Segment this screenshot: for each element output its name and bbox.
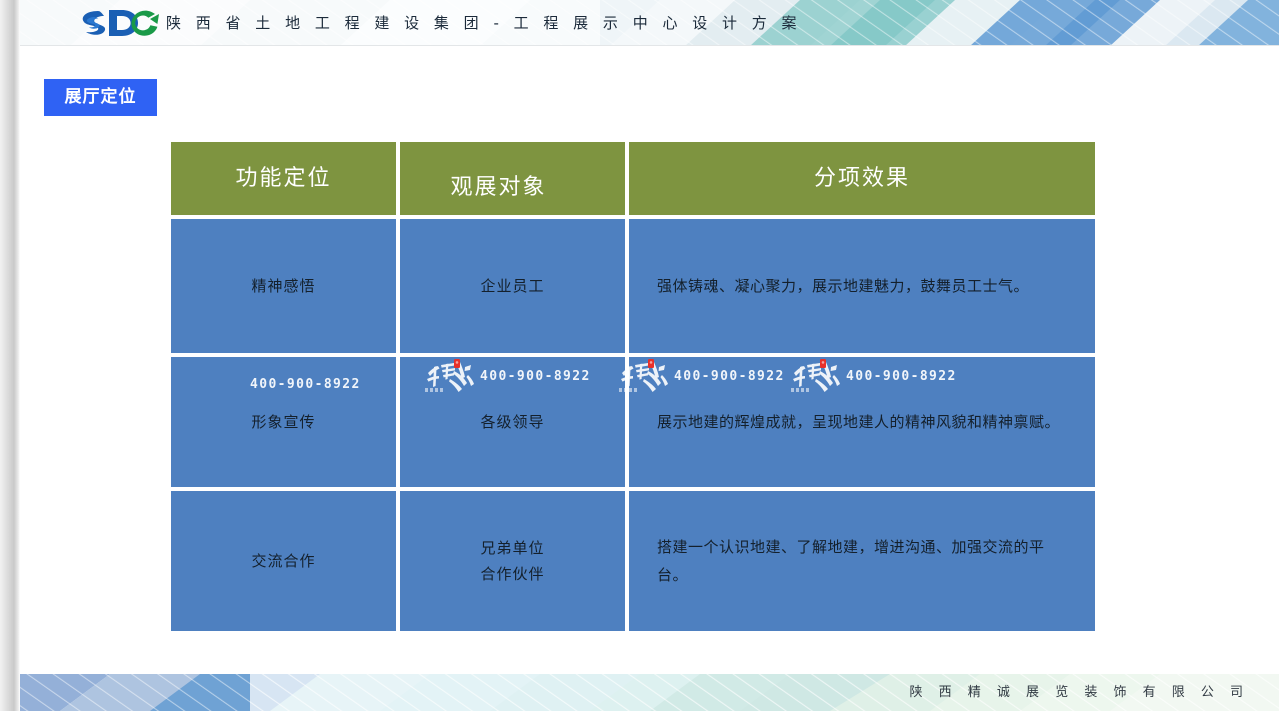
table-cell-audience-text: 兄弟单位 合作伙伴 [400, 535, 625, 587]
table-header-cell-function: 功能定位 [171, 142, 396, 215]
table-cell-function-text: 精神感悟 [171, 273, 396, 299]
table-cell-effect-text: 强体铸魂、凝心聚力，展示地建魅力，鼓舞员工士气。 [657, 272, 1073, 300]
table-cell-effect: 展示地建的辉煌成就，呈现地建人的精神风貌和精神禀赋。 [629, 357, 1095, 487]
section-badge: 展厅定位 [44, 79, 157, 116]
table-cell-effect-text: 展示地建的辉煌成就，呈现地建人的精神风貌和精神禀赋。 [657, 408, 1073, 436]
table-cell-audience-text: 各级领导 [400, 409, 625, 435]
table-cell-audience-line2: 合作伙伴 [400, 561, 625, 587]
table-cell-function: 精神感悟 [171, 219, 396, 353]
table-row: 形象宣传 各级领导 展示地建的辉煌成就，呈现地建人的精神风貌和精神禀赋。 [171, 357, 1095, 487]
table-cell-audience-line1: 兄弟单位 [400, 535, 625, 561]
table-cell-effect: 强体铸魂、凝心聚力，展示地建魅力，鼓舞员工士气。 [629, 219, 1095, 353]
table-cell-effect: 搭建一个认识地建、了解地建，增进沟通、加强交流的平台。 [629, 491, 1095, 631]
table-cell-function-text: 形象宣传 [171, 409, 396, 435]
slide-footer: 陕 西 精 诚 展 览 装 饰 有 限 公 司 [0, 674, 1279, 711]
table-header-cell-audience: 观展对象 [400, 142, 625, 215]
header-divider [0, 45, 1279, 46]
table-header-label-function: 功能定位 [171, 162, 396, 196]
table-cell-audience: 企业员工 [400, 219, 625, 353]
sdc-logo-icon [76, 5, 160, 41]
slide-header: 陕 西 省 土 地 工 程 建 设 集 团 - 工 程 展 示 中 心 设 计 … [0, 0, 1279, 46]
table-row: 精神感悟 企业员工 强体铸魂、凝心聚力，展示地建魅力，鼓舞员工士气。 [171, 219, 1095, 353]
table-cell-function-text: 交流合作 [171, 548, 396, 574]
table-header-row: 功能定位 观展对象 分项效果 [171, 142, 1095, 215]
section-badge-label: 展厅定位 [44, 79, 157, 116]
table-cell-audience-text: 企业员工 [400, 273, 625, 299]
positioning-table: 功能定位 观展对象 分项效果 精神感悟 企业员工 强体铸魂、凝心聚力，展示地建魅… [171, 142, 1095, 631]
table-row: 交流合作 兄弟单位 合作伙伴 搭建一个认识地建、了解地建，增进沟通、加强交流的平… [171, 491, 1095, 631]
table-cell-function: 交流合作 [171, 491, 396, 631]
slide-canvas: 陕 西 省 土 地 工 程 建 设 集 团 - 工 程 展 示 中 心 设 计 … [0, 0, 1279, 711]
page-title: 陕 西 省 土 地 工 程 建 设 集 团 - 工 程 展 示 中 心 设 计 … [166, 11, 802, 35]
left-edge-strip [0, 0, 20, 711]
table-cell-function: 形象宣传 [171, 357, 396, 487]
table-cell-audience: 各级领导 [400, 357, 625, 487]
table-cell-audience: 兄弟单位 合作伙伴 [400, 491, 625, 631]
footer-company-name: 陕 西 精 诚 展 览 装 饰 有 限 公 司 [910, 674, 1249, 711]
table-header-label-effect: 分项效果 [629, 162, 1095, 196]
table-header-label-audience: 观展对象 [451, 168, 581, 208]
table-cell-effect-text: 搭建一个认识地建、了解地建，增进沟通、加强交流的平台。 [657, 533, 1073, 589]
table-header-cell-effect: 分项效果 [629, 142, 1095, 215]
